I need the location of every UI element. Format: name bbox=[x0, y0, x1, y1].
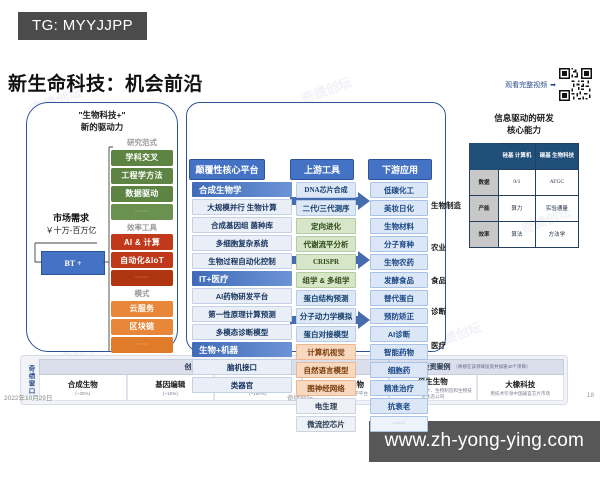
bt-plus-box: BT + bbox=[41, 251, 105, 275]
downstream-app: 精准治疗 bbox=[370, 380, 428, 396]
watch-full-video-link[interactable]: 观看完整视频 ➡ bbox=[505, 68, 592, 101]
column-head-downstream-apps: 下游应用 bbox=[368, 159, 432, 180]
platform-item: 多细胞复杂系统 bbox=[192, 235, 292, 251]
core-platform-column: 合成生物学 大规模并行 生物计算 合成基因组 菌种库 多细胞复杂系统 生物过程自… bbox=[192, 182, 292, 395]
row-header: 效率 bbox=[470, 221, 499, 247]
driver-item: ······ bbox=[111, 204, 173, 220]
downstream-app: 分子育种 bbox=[370, 236, 428, 252]
signal-name: 合成生物 bbox=[68, 379, 98, 390]
platform-group-header: 合成生物学 bbox=[192, 182, 292, 197]
qr-code-icon[interactable] bbox=[559, 68, 592, 101]
table-row: 产能 算力 实验通量 bbox=[470, 195, 579, 221]
column-head-upstream-tools: 上游工具 bbox=[290, 159, 354, 180]
downstream-app: 生物材料 bbox=[370, 218, 428, 234]
table-corner-cell bbox=[470, 143, 499, 169]
market-demand: 市场需求 ￥十万-百万亿 bbox=[33, 211, 109, 236]
category-label: 诊断 bbox=[431, 306, 446, 317]
downstream-app: 替代蛋白 bbox=[370, 290, 428, 306]
downstream-app: 预防矫正 bbox=[370, 308, 428, 324]
upstream-tool: 自然语言模型 bbox=[296, 362, 356, 378]
row-header: 产能 bbox=[470, 195, 499, 221]
driver-item: AI & 计算 bbox=[111, 234, 173, 250]
platform-item: 多模态诊断模型 bbox=[192, 324, 292, 340]
table-col-silicon: 硅基 计算机 bbox=[499, 143, 536, 169]
rd-capability-box: 信息驱动的研发 核心能力 硅基 计算机 碳基 生物科技 数据 0/1 ATGC … bbox=[455, 112, 593, 248]
rd-capability-table: 硅基 计算机 碳基 生物科技 数据 0/1 ATGC 产能 算力 实验通量 效率… bbox=[469, 143, 579, 248]
upstream-tool: 微流控芯片 bbox=[296, 416, 356, 432]
category-label: 生物制造 bbox=[431, 200, 461, 211]
platform-item: 大规模并行 生物计算 bbox=[192, 199, 292, 215]
downstream-app: 生物农药 bbox=[370, 254, 428, 270]
driver-item: 学科交叉 bbox=[111, 150, 173, 166]
downstream-app: 抗衰老 bbox=[370, 398, 428, 414]
category-label: 医疗 bbox=[431, 340, 446, 351]
group-title-1: 效率工具 bbox=[111, 222, 173, 233]
rd-title-line2: 核心能力 bbox=[455, 124, 593, 136]
upstream-tools-column: DNA芯片合成 二代/三代测序 定向进化 代谢流平分析 CRISPR 组学 & … bbox=[296, 182, 356, 434]
downstream-app: 细胞药 bbox=[370, 362, 428, 378]
cell-carbon: 实验通量 bbox=[535, 195, 578, 221]
qr-label: 观看完整视频 bbox=[505, 80, 547, 90]
investment-name: 大橡科技 bbox=[505, 379, 535, 390]
section-note: （奇绩在该领域投资并加速40个项目） bbox=[453, 364, 530, 370]
downstream-app: 低碳化工 bbox=[370, 182, 428, 198]
market-demand-value: ￥十万-百万亿 bbox=[33, 225, 109, 236]
slide-canvas: 奇绩创坛 奇绩创坛 奇绩创坛 奇绩创坛 奇绩创坛 新生命科技：机会前沿 观看完整… bbox=[0, 60, 600, 405]
downstream-apps-column: 低碳化工 美妆日化 生物材料 分子育种 生物农药 发酵食品 替代蛋白 预防矫正 … bbox=[370, 182, 428, 434]
platform-group-header: IT+医疗 bbox=[192, 271, 292, 286]
arrow-right-icon: ➡ bbox=[550, 81, 556, 89]
cell-silicon: 0/1 bbox=[499, 169, 536, 195]
table-row: 效率 算法 方法学 bbox=[470, 221, 579, 247]
upstream-tool: 蛋白对接模型 bbox=[296, 326, 356, 342]
driver-item: 工程学方法 bbox=[111, 168, 173, 184]
upstream-tool: 电生理 bbox=[296, 398, 356, 414]
column-head-core-platform: 颠覆性核心平台 bbox=[189, 159, 265, 180]
upstream-tool: CRISPR bbox=[296, 254, 356, 270]
downstream-app: 智能药物 bbox=[370, 344, 428, 360]
table-row: 数据 0/1 ATGC bbox=[470, 169, 579, 195]
downstream-app: AI诊断 bbox=[370, 326, 428, 342]
rd-title-line1: 信息驱动的研发 bbox=[455, 112, 593, 124]
driver-item: ······ bbox=[111, 337, 173, 353]
group-title-0: 研究范式 bbox=[111, 137, 173, 148]
platform-item: 合成基因组 菌种库 bbox=[192, 217, 292, 233]
upstream-tool: 组学 & 多组学 bbox=[296, 272, 356, 288]
signal-name: 基因编辑 bbox=[155, 379, 185, 390]
cell-silicon: 算力 bbox=[499, 195, 536, 221]
downstream-app: 美妆日化 bbox=[370, 200, 428, 216]
driver-item: 数据驱动 bbox=[111, 186, 173, 202]
category-label: 农业 bbox=[431, 242, 446, 253]
cell-carbon: ATGC bbox=[535, 169, 578, 195]
cell-carbon: 方法学 bbox=[535, 221, 578, 247]
upstream-tool: 定向进化 bbox=[296, 218, 356, 234]
footer-page-number: 18 bbox=[587, 392, 594, 399]
upstream-tool: 二代/三代测序 bbox=[296, 200, 356, 216]
page-title: 新生命科技：机会前沿 bbox=[8, 69, 203, 96]
downstream-app: 发酵食品 bbox=[370, 272, 428, 288]
upstream-tool: 分子动力学模拟 bbox=[296, 308, 356, 324]
upstream-tool: 计算机视觉 bbox=[296, 344, 356, 360]
platform-item: 脑机接口 bbox=[192, 359, 292, 375]
row-header: 数据 bbox=[470, 169, 499, 195]
driver-stack: 研究范式 学科交叉 工程学方法 数据驱动 ······ 效率工具 AI & 计算… bbox=[111, 135, 173, 355]
platform-item: AI药物研发平台 bbox=[192, 288, 292, 304]
upstream-tool: DNA芯片合成 bbox=[296, 182, 356, 198]
table-col-carbon: 碳基 生物科技 bbox=[535, 143, 578, 169]
upstream-tool: 图神经网络 bbox=[296, 380, 356, 396]
upstream-tool: 蛋白结构预测 bbox=[296, 290, 356, 306]
table-header-row: 硅基 计算机 碳基 生物科技 bbox=[470, 143, 579, 169]
platform-item: 第一性原理计算预测 bbox=[192, 306, 292, 322]
biotech-driver-panel: "生物科技+" 新的驱动力 市场需求 ￥十万-百万亿 BT + 研究范式 学科交… bbox=[26, 102, 178, 352]
platform-group-header: 生物+机器 bbox=[192, 342, 292, 357]
downstream-app: ······ bbox=[370, 416, 428, 432]
driver-item: 云服务 bbox=[111, 301, 173, 317]
upstream-tool: 代谢流平分析 bbox=[296, 236, 356, 252]
platform-item: 生物过程自动化控制 bbox=[192, 253, 292, 269]
driver-item: ······ bbox=[111, 270, 173, 286]
driver-item: 区块链 bbox=[111, 319, 173, 335]
category-label: 食品 bbox=[431, 275, 446, 286]
platform-item: 类器官 bbox=[192, 377, 292, 393]
group-title-2: 模式 bbox=[111, 288, 173, 299]
left-heading-line1: "生物科技+" bbox=[27, 109, 177, 121]
cell-silicon: 算法 bbox=[499, 221, 536, 247]
driver-item: 自动化&IoT bbox=[111, 252, 173, 268]
tg-watermark-tag: TG: MYYJJPP bbox=[18, 12, 147, 40]
left-heading-line2: 新的驱动力 bbox=[27, 121, 177, 133]
market-demand-title: 市场需求 bbox=[33, 211, 109, 224]
